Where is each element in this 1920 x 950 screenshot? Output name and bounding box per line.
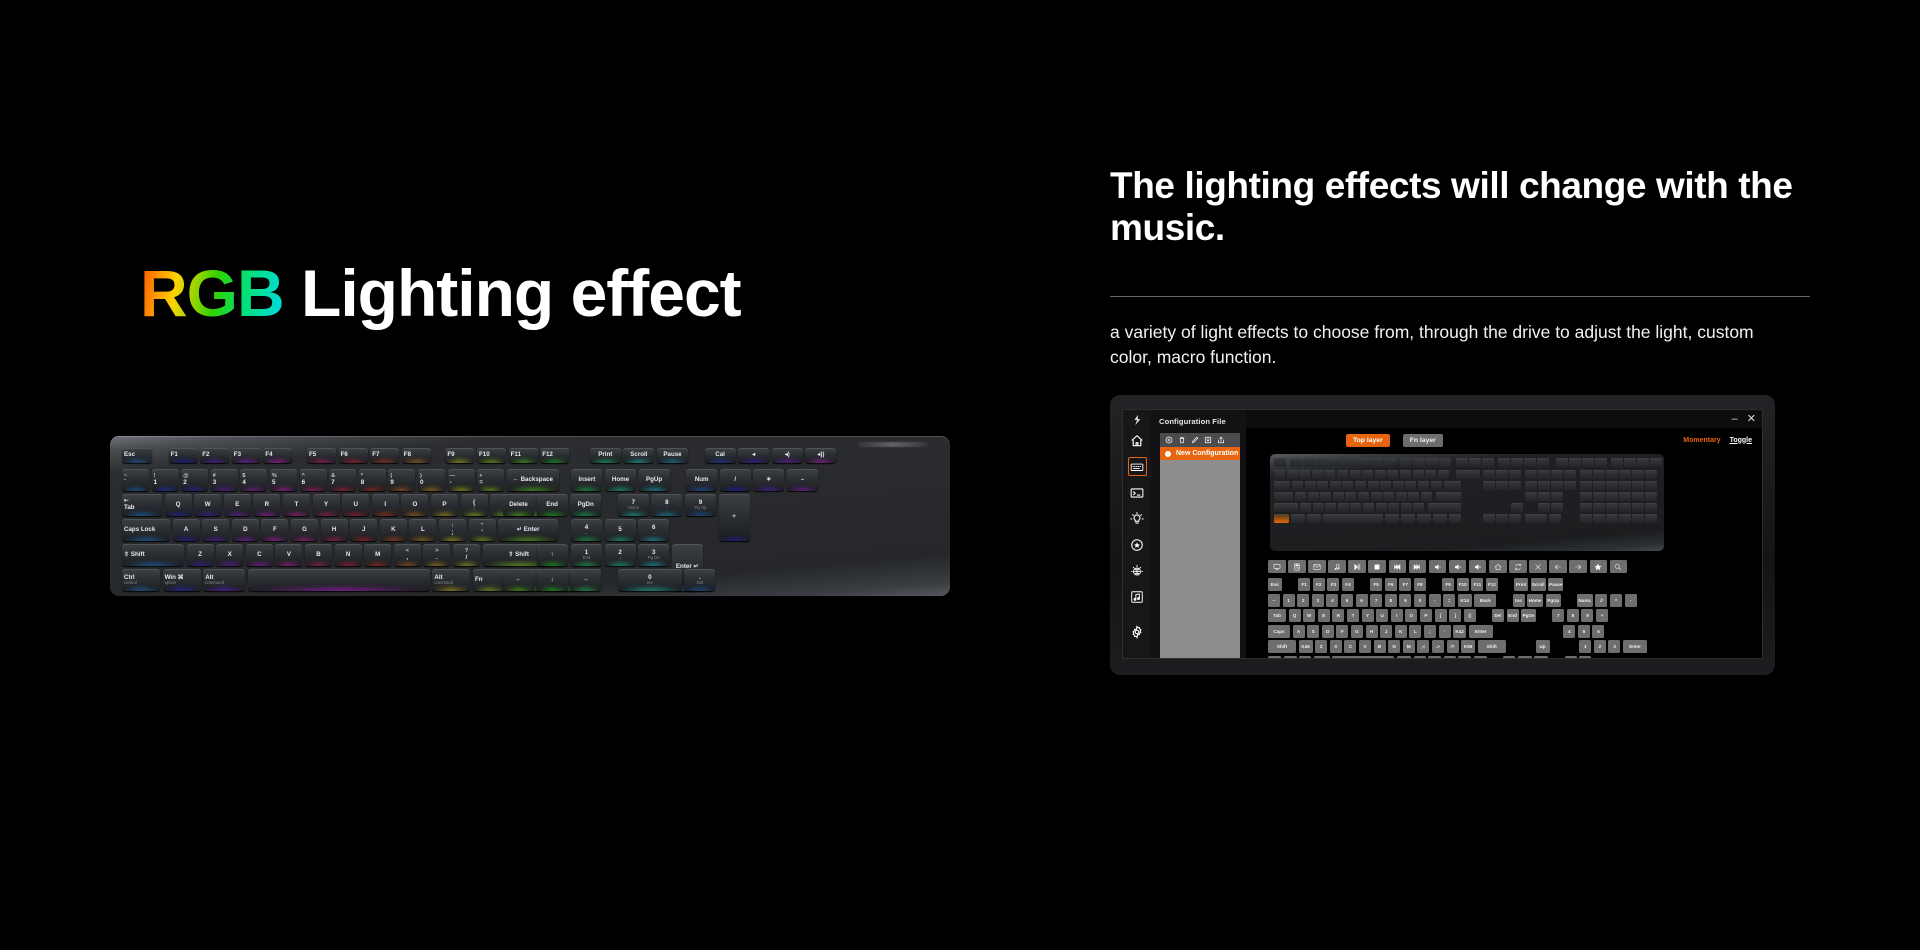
preview-keycap[interactable]	[1345, 492, 1356, 501]
mode-toggle[interactable]: Toggle	[1730, 437, 1752, 444]
key-grid-cell[interactable]: 2	[1594, 640, 1606, 653]
preview-keycap[interactable]	[1496, 470, 1508, 479]
preview-keycap[interactable]	[1426, 458, 1438, 467]
key-grid-cell[interactable]: .	[1579, 656, 1591, 659]
preview-keycap[interactable]	[1606, 470, 1618, 479]
tab-top-layer[interactable]: Top layer	[1346, 434, 1390, 447]
sidebar-item-keyboard[interactable]	[1128, 457, 1147, 476]
key-grid-cell[interactable]: ]	[1449, 609, 1461, 622]
close-button[interactable]: ✕	[1747, 414, 1756, 425]
preview-keycap[interactable]	[1274, 492, 1293, 501]
key-grid-cell[interactable]: ,<	[1417, 640, 1429, 653]
preview-keycap[interactable]	[1483, 481, 1495, 490]
sidebar-item-macro[interactable]	[1128, 483, 1147, 502]
tab-fn-layer[interactable]: Fn layer	[1403, 434, 1443, 447]
preview-keycap[interactable]	[1469, 458, 1481, 467]
preview-keycap[interactable]	[1593, 481, 1605, 490]
key-grid-cell[interactable]: 2	[1297, 594, 1309, 607]
key-grid-cell[interactable]: Back	[1474, 594, 1496, 607]
key-grid-cell[interactable]: .>	[1432, 640, 1444, 653]
key-grid-cell[interactable]: I	[1391, 609, 1403, 622]
preview-keycap[interactable]	[1316, 458, 1328, 467]
key-grid-cell[interactable]: R	[1332, 609, 1344, 622]
preview-keycap[interactable]	[1456, 458, 1468, 467]
calculator-icon[interactable]	[1288, 560, 1306, 573]
key-grid-cell[interactable]: Print	[1514, 578, 1528, 591]
key-grid-cell[interactable]: F3	[1327, 578, 1339, 591]
preview-keycap[interactable]	[1624, 458, 1636, 467]
preview-keycap[interactable]	[1383, 492, 1394, 501]
key-grid-cell[interactable]: F10	[1457, 578, 1469, 591]
preview-keycap[interactable]	[1291, 514, 1305, 523]
preview-keycap[interactable]	[1645, 492, 1657, 501]
key-grid-cell[interactable]: F1	[1298, 578, 1310, 591]
preview-keycap[interactable]	[1551, 503, 1563, 512]
search-icon[interactable]	[1610, 560, 1628, 573]
key-grid-cell[interactable]: E	[1318, 609, 1330, 622]
preview-keycap[interactable]	[1524, 458, 1536, 467]
preview-keycap[interactable]	[1619, 514, 1631, 523]
preview-keycap[interactable]	[1619, 470, 1631, 479]
key-grid-cell[interactable]: Win	[1428, 656, 1441, 659]
preview-keycap[interactable]	[1538, 492, 1550, 501]
key-grid-cell[interactable]: 5	[1578, 625, 1590, 638]
key-grid-cell[interactable]: A	[1293, 625, 1305, 638]
key-grid-cell[interactable]: 5	[1341, 594, 1353, 607]
key-grid-cell[interactable]: F	[1336, 625, 1348, 638]
key-grid-cell[interactable]: App	[1458, 656, 1471, 659]
key-grid-cell[interactable]: K150	[1314, 656, 1330, 659]
preview-keycap[interactable]	[1611, 458, 1623, 467]
preview-keycap[interactable]	[1388, 503, 1399, 512]
preview-keycap[interactable]	[1413, 503, 1424, 512]
key-grid-cell[interactable]: NumL	[1577, 594, 1593, 607]
key-grid-cell[interactable]: *	[1610, 594, 1622, 607]
preview-keycap[interactable]	[1496, 514, 1508, 523]
preview-keycap[interactable]	[1482, 458, 1494, 467]
key-rgb-glow	[402, 460, 431, 463]
key-grid-cell[interactable]: Down	[1518, 656, 1532, 659]
key-grid-cell[interactable]: 6	[1592, 625, 1604, 638]
preview-keycap[interactable]	[1371, 492, 1382, 501]
key-grid-cell[interactable]: Enter	[1623, 640, 1647, 653]
preview-keycap[interactable]	[1300, 503, 1311, 512]
key-grid-cell[interactable]: Left	[1503, 656, 1515, 659]
key-grid-cell[interactable]: S	[1307, 625, 1319, 638]
key-grid-cell[interactable]: L	[1409, 625, 1421, 638]
key-grid-cell[interactable]: 6	[1356, 594, 1368, 607]
key-grid-cell[interactable]: PgDn	[1521, 609, 1536, 622]
preview-keycap[interactable]	[1632, 481, 1644, 490]
preview-keycap[interactable]	[1350, 470, 1361, 479]
preview-keycap[interactable]	[1580, 481, 1592, 490]
preview-keycap[interactable]	[1323, 514, 1383, 523]
key-grid-cell[interactable]: ~	[1268, 594, 1280, 607]
preview-keycap[interactable]	[1511, 458, 1523, 467]
preview-keycap[interactable]	[1401, 514, 1415, 523]
key-grid-cell[interactable]: PgUp	[1546, 594, 1561, 607]
preview-keycap[interactable]	[1593, 503, 1605, 512]
preview-keycap[interactable]	[1292, 481, 1303, 490]
key-grid-cell[interactable]: O	[1405, 609, 1417, 622]
preview-keycap[interactable]	[1551, 492, 1563, 501]
stop-icon[interactable]	[1368, 560, 1386, 573]
preview-keycap[interactable]	[1401, 503, 1412, 512]
key-grid-cell[interactable]: 8	[1567, 609, 1579, 622]
key-grid-cell[interactable]: Scroll	[1531, 578, 1546, 591]
sidebar-item-home[interactable]	[1128, 431, 1147, 450]
key-grid-gap	[1539, 609, 1550, 622]
preview-keycap[interactable]	[1368, 481, 1379, 490]
edit-icon[interactable]	[1191, 436, 1199, 444]
key-grid-cell[interactable]: -	[1625, 594, 1637, 607]
preview-keycap[interactable]	[1295, 492, 1306, 501]
preview-keycap[interactable]	[1413, 470, 1424, 479]
key-grid-cell[interactable]: B	[1374, 640, 1386, 653]
volume-mute-icon[interactable]	[1449, 560, 1467, 573]
preview-keycap[interactable]	[1324, 470, 1335, 479]
preview-keycap[interactable]	[1606, 492, 1618, 501]
preview-keycap[interactable]	[1287, 470, 1298, 479]
preview-keycap[interactable]	[1456, 470, 1480, 479]
preview-keycap[interactable]	[1362, 470, 1373, 479]
preview-keycap[interactable]	[1525, 481, 1537, 490]
preview-keycap[interactable]	[1358, 492, 1369, 501]
preview-keycap[interactable]	[1582, 458, 1594, 467]
preview-keycap[interactable]	[1593, 470, 1605, 479]
key-grid-cell[interactable]: Ctrl	[1268, 656, 1281, 659]
key-grid-cell[interactable]: Del	[1492, 609, 1504, 622]
configuration-list-item[interactable]: New Configuration	[1160, 447, 1240, 460]
import-icon[interactable]	[1204, 436, 1212, 444]
preview-keycap[interactable]	[1525, 470, 1537, 479]
key-grid-cell[interactable]: F7	[1399, 578, 1411, 591]
preview-keycap[interactable]	[1333, 492, 1344, 501]
key-grid-cell[interactable]: C	[1344, 640, 1356, 653]
key-grid-cell[interactable]: X	[1330, 640, 1342, 653]
key-grid-cell[interactable]: Esc	[1268, 578, 1282, 591]
preview-keycap[interactable]	[1537, 458, 1549, 467]
key-grid-cell[interactable]: K14	[1458, 594, 1472, 607]
preview-keycap[interactable]	[1418, 481, 1429, 490]
preview-keycap[interactable]	[1380, 481, 1391, 490]
preview-keycap[interactable]	[1355, 481, 1366, 490]
preview-keycap[interactable]	[1580, 503, 1592, 512]
key-grid-cell[interactable]: 9	[1581, 609, 1593, 622]
preview-keycap[interactable]	[1632, 492, 1644, 501]
preview-keycap[interactable]	[1375, 470, 1386, 479]
preview-keycap[interactable]	[1509, 470, 1521, 479]
key-grid-cell[interactable]: K151	[1397, 656, 1411, 659]
preview-keycap[interactable]	[1525, 514, 1547, 523]
key-grid-cell[interactable]: 4	[1563, 625, 1575, 638]
key-grid-cell[interactable]: 0	[1414, 594, 1426, 607]
key-grid-cell[interactable]: Alt	[1299, 656, 1311, 659]
key-grid-cell[interactable]: F6	[1385, 578, 1397, 591]
minimize-button[interactable]: –	[1732, 414, 1738, 425]
preview-keycap[interactable]	[1498, 458, 1510, 467]
preview-keycap[interactable]	[1342, 481, 1353, 490]
key-grid-cell[interactable]: Pause	[1548, 578, 1563, 591]
volume-up-icon[interactable]	[1469, 560, 1487, 573]
preview-keycap[interactable]	[1371, 458, 1383, 467]
preview-keycap[interactable]	[1538, 481, 1550, 490]
preview-keycap[interactable]	[1387, 470, 1398, 479]
key-grid-cell[interactable]: F8	[1414, 578, 1426, 591]
preview-keycap[interactable]	[1511, 503, 1523, 512]
preview-keycap[interactable]	[1645, 470, 1657, 479]
preview-keycap[interactable]	[1307, 514, 1321, 523]
preview-keycap[interactable]	[1312, 470, 1323, 479]
key-grid-cell[interactable]: =	[1443, 594, 1455, 607]
preview-keycap[interactable]	[1337, 470, 1348, 479]
key-grid-cell[interactable]: Alt	[1414, 656, 1426, 659]
key-grid-cell[interactable]: 7	[1552, 609, 1564, 622]
key-grid-cell[interactable]: H	[1366, 625, 1378, 638]
key-grid-cell[interactable]: N	[1388, 640, 1400, 653]
key-grid-cell[interactable]: Shift	[1268, 640, 1296, 653]
key-grid-cell[interactable]: Y	[1362, 609, 1374, 622]
sidebar-item-lighting[interactable]	[1128, 509, 1147, 528]
key-grid-cell[interactable]: 7	[1370, 594, 1382, 607]
preview-keycap[interactable]	[1405, 481, 1416, 490]
play-pause-icon[interactable]	[1348, 560, 1366, 573]
preview-keycap[interactable]	[1650, 458, 1662, 467]
key-grid-cell[interactable]: -	[1429, 594, 1441, 607]
key-grid-cell[interactable]: M	[1403, 640, 1415, 653]
key-grid-cell[interactable]: Shift	[1478, 640, 1506, 653]
preview-keycap[interactable]	[1408, 492, 1419, 501]
preview-keycap[interactable]	[1428, 503, 1461, 512]
key-grid-cell[interactable]: Enter	[1469, 625, 1493, 638]
preview-keycap[interactable]	[1274, 503, 1298, 512]
preview-keycap[interactable]	[1299, 470, 1310, 479]
close-icon[interactable]	[1529, 560, 1547, 573]
preview-keycap[interactable]	[1509, 514, 1521, 523]
preview-keycap[interactable]	[1396, 492, 1407, 501]
preview-keycap[interactable]	[1580, 470, 1592, 479]
key-grid-cell[interactable]: 8	[1385, 594, 1397, 607]
key-grid-cell[interactable]: T	[1347, 609, 1359, 622]
key-grid-cell[interactable]: F11	[1471, 578, 1483, 591]
preview-keycap[interactable]	[1308, 492, 1319, 501]
preview-keycap[interactable]	[1421, 492, 1432, 501]
sidebar-item-music[interactable]	[1128, 587, 1147, 606]
key-grid-cell[interactable]: K45	[1299, 640, 1313, 653]
key-grid-cell[interactable]: J	[1380, 625, 1392, 638]
preview-keycap[interactable]	[1329, 458, 1341, 467]
preview-keycap[interactable]	[1619, 492, 1631, 501]
key-grid-cell[interactable]: //	[1595, 594, 1607, 607]
preview-keycap[interactable]	[1632, 470, 1644, 479]
key-grid-cell[interactable]: P	[1420, 609, 1432, 622]
preview-keycap[interactable]	[1551, 470, 1563, 479]
preview-keycap[interactable]	[1551, 481, 1563, 490]
key-grid-cell[interactable]: V	[1359, 640, 1371, 653]
preview-keycap[interactable]	[1632, 514, 1644, 523]
key-grid-cell[interactable]: W	[1303, 609, 1315, 622]
forward-icon[interactable]	[1569, 560, 1587, 573]
preview-keycap[interactable]	[1483, 514, 1495, 523]
preview-keycap[interactable]	[1569, 458, 1581, 467]
key-grid-cell[interactable]: Caps	[1268, 625, 1290, 638]
preview-keycap[interactable]	[1619, 503, 1631, 512]
key-grid-cell[interactable]: End	[1507, 609, 1519, 622]
preview-keycap[interactable]	[1400, 470, 1411, 479]
preview-keycap[interactable]	[1393, 481, 1404, 490]
preview-keycap[interactable]	[1400, 458, 1412, 467]
preview-keycap[interactable]	[1438, 470, 1449, 479]
keyboard-preview[interactable]	[1270, 454, 1664, 551]
preview-keycap[interactable]	[1645, 514, 1657, 523]
preview-keycap[interactable]	[1305, 481, 1316, 490]
preview-keycap[interactable]	[1313, 503, 1324, 512]
key-grid-cell[interactable]: +	[1596, 609, 1608, 622]
key-grid-cell[interactable]: U	[1376, 609, 1388, 622]
key-grid-cell[interactable]: Q	[1289, 609, 1301, 622]
key-grid-cell[interactable]: 0	[1565, 656, 1577, 659]
preview-keycap[interactable]	[1619, 481, 1631, 490]
volume-down-icon[interactable]	[1429, 560, 1447, 573]
preview-keycap[interactable]	[1564, 481, 1576, 490]
preview-keycap[interactable]	[1483, 470, 1495, 479]
key-grid-cell[interactable]: 3	[1312, 594, 1324, 607]
preview-keycap[interactable]	[1290, 458, 1302, 467]
preview-keycap[interactable]	[1606, 514, 1618, 523]
preview-keycap[interactable]	[1385, 514, 1399, 523]
key-grid-cell[interactable]: K56	[1461, 640, 1475, 653]
preview-keycap[interactable]	[1274, 514, 1289, 523]
preview-keycap[interactable]	[1436, 492, 1461, 501]
preview-keycap[interactable]	[1549, 514, 1561, 523]
preview-keycap[interactable]	[1593, 514, 1605, 523]
preview-keycap[interactable]	[1433, 514, 1447, 523]
preview-keycap[interactable]	[1376, 503, 1387, 512]
preview-keycap[interactable]	[1317, 481, 1328, 490]
refresh-icon[interactable]	[1509, 560, 1527, 573]
key-grid-cell[interactable]: Up	[1536, 640, 1550, 653]
home-icon[interactable]	[1489, 560, 1507, 573]
preview-keycap[interactable]	[1338, 503, 1349, 512]
preview-keycap[interactable]	[1358, 458, 1370, 467]
preview-keycap[interactable]	[1444, 481, 1461, 490]
key-grid-cell[interactable]: 9	[1399, 594, 1411, 607]
sidebar-item-disco[interactable]	[1128, 561, 1147, 580]
preview-keycap[interactable]	[1632, 503, 1644, 512]
preview-keycap[interactable]	[1538, 503, 1550, 512]
export-icon[interactable]	[1217, 436, 1225, 444]
music-icon[interactable]	[1328, 560, 1346, 573]
add-icon[interactable]	[1165, 436, 1173, 444]
preview-keycap[interactable]	[1363, 503, 1374, 512]
mode-momentary[interactable]: Momentary	[1683, 437, 1720, 444]
favorite-icon[interactable]	[1590, 560, 1608, 573]
key-grid-cell[interactable]: Ins	[1513, 594, 1525, 607]
key-grid-cell[interactable]: '	[1439, 625, 1451, 638]
sidebar-item-settings[interactable]	[1128, 622, 1147, 641]
key-grid-cell[interactable]: 1	[1283, 594, 1295, 607]
preview-keycap[interactable]	[1274, 481, 1290, 490]
key-grid-cell[interactable]: F2	[1313, 578, 1325, 591]
mail-icon[interactable]	[1308, 560, 1326, 573]
preview-keycap[interactable]	[1431, 481, 1442, 490]
key-grid-cell[interactable]: F5	[1370, 578, 1382, 591]
preview-keycap[interactable]	[1413, 458, 1425, 467]
keycap: S	[202, 519, 229, 541]
key-grid-cell[interactable]: ||	[1464, 609, 1476, 622]
preview-keycap[interactable]	[1606, 481, 1618, 490]
preview-keycap[interactable]	[1425, 470, 1436, 479]
key-grid-cell[interactable]: 3	[1608, 640, 1620, 653]
key-grid-cell[interactable]: Z	[1315, 640, 1327, 653]
key-grid-cell[interactable]: D	[1322, 625, 1334, 638]
key-grid-cell[interactable]: F9	[1442, 578, 1454, 591]
preview-keycap[interactable]	[1593, 492, 1605, 501]
preview-keycap[interactable]	[1350, 503, 1361, 512]
delete-icon[interactable]	[1178, 436, 1186, 444]
preview-keycap[interactable]	[1645, 481, 1657, 490]
preview-keycap[interactable]	[1384, 458, 1396, 467]
preview-keycap[interactable]	[1556, 458, 1568, 467]
preview-keycap[interactable]	[1595, 458, 1607, 467]
key-grid-cell[interactable]: G	[1351, 625, 1363, 638]
key-grid-cell[interactable]: [	[1435, 609, 1447, 622]
preview-keycap[interactable]	[1637, 458, 1649, 467]
preview-keycap[interactable]	[1538, 470, 1550, 479]
key-grid-cell[interactable]: K	[1395, 625, 1407, 638]
preview-keycap[interactable]	[1496, 481, 1508, 490]
preview-keycap[interactable]	[1274, 470, 1285, 479]
key-grid-cell[interactable]: /?	[1447, 640, 1459, 653]
key-grid-cell[interactable]: Right	[1534, 656, 1548, 659]
preview-keycap[interactable]	[1525, 492, 1537, 501]
key-grid-cell[interactable]: Fn	[1444, 656, 1456, 659]
media-shortcut-row	[1268, 560, 1627, 573]
back-icon[interactable]	[1549, 560, 1567, 573]
preview-keycap[interactable]	[1564, 470, 1576, 479]
key-grid-cell[interactable]: K42	[1453, 625, 1466, 638]
key-grid-cell[interactable]: Ctrl	[1474, 656, 1487, 659]
next-track-icon[interactable]	[1409, 560, 1427, 573]
preview-keycap[interactable]	[1606, 503, 1618, 512]
preview-keycap[interactable]	[1449, 514, 1461, 523]
key-grid-cell[interactable]: 1	[1579, 640, 1591, 653]
preview-keycap[interactable]	[1345, 458, 1357, 467]
preview-keycap[interactable]	[1509, 481, 1521, 490]
preview-keycap[interactable]	[1330, 481, 1341, 490]
preview-keycap[interactable]	[1580, 492, 1592, 501]
monitor-icon[interactable]	[1268, 560, 1286, 573]
prev-track-icon[interactable]	[1389, 560, 1407, 573]
key-grid-cell[interactable]: Tab	[1268, 609, 1286, 622]
preview-keycap[interactable]	[1645, 503, 1657, 512]
key-grid-cell[interactable]: F4	[1342, 578, 1354, 591]
preview-keycap[interactable]	[1325, 503, 1336, 512]
preview-keycap[interactable]	[1580, 514, 1592, 523]
preview-keycap[interactable]	[1439, 458, 1451, 467]
key-grid-cell[interactable]: 4	[1326, 594, 1338, 607]
key-grid-cell[interactable]: Win	[1284, 656, 1297, 659]
preview-keycap[interactable]	[1274, 458, 1286, 467]
key-grid-cell[interactable]: Space	[1332, 656, 1394, 659]
preview-keycap[interactable]	[1303, 458, 1315, 467]
preview-keycap[interactable]	[1417, 514, 1431, 523]
key-grid-cell[interactable]: ;	[1424, 625, 1436, 638]
key-grid-cell[interactable]: F12	[1486, 578, 1498, 591]
key-grid-cell[interactable]: Home	[1527, 594, 1543, 607]
sidebar-item-record[interactable]	[1128, 535, 1147, 554]
preview-keycap[interactable]	[1320, 492, 1331, 501]
